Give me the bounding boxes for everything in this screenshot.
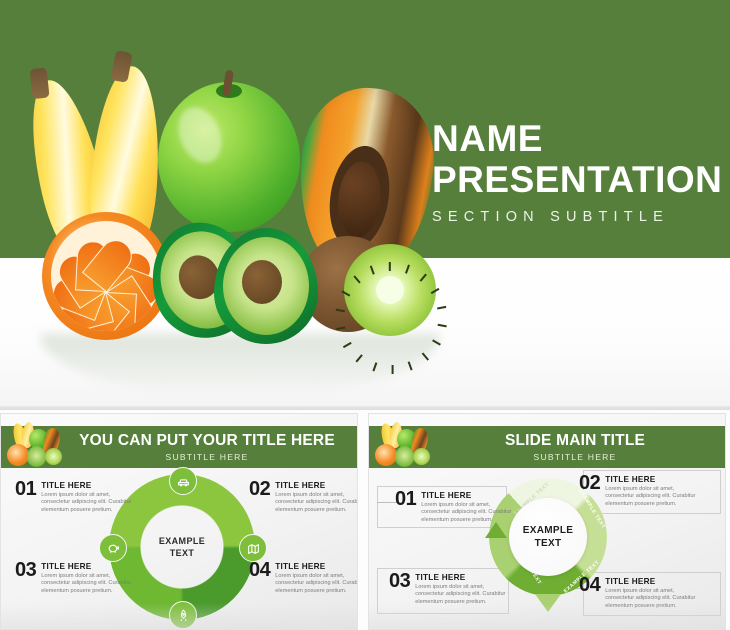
kiwi-seed <box>391 365 393 374</box>
item-number: 01 <box>395 490 416 509</box>
slide2-title: SLIDE MAIN TITLE <box>505 432 645 450</box>
slide2-header-text: SLIDE MAIN TITLE SUBTITLE HERE <box>431 426 719 468</box>
list-item[interactable]: 02 TITLE HERE Lorem ipsum dolor sit amet… <box>249 480 358 514</box>
item-body: Lorem ipsum dolor sit amet, consectetur … <box>421 502 513 524</box>
slide-thumbnail-row: YOU CAN PUT YOUR TITLE HERE SUBTITLE HER… <box>0 413 730 630</box>
avocado-pit <box>242 260 282 304</box>
item-body: Lorem ipsum dolor sit amet, consectetur … <box>41 573 133 595</box>
arrow-head-icon <box>485 522 507 538</box>
item-number: 04 <box>249 561 270 580</box>
slide1-reflection <box>1 603 357 629</box>
item-number: 03 <box>389 572 410 591</box>
kiwi-slice-icon <box>344 244 436 336</box>
mini-fruit-cluster-icon <box>5 422 63 470</box>
page-title: NAME PRESENTATION <box>432 118 722 200</box>
hero-title-line1: NAME <box>432 118 543 159</box>
item-title: TITLE HERE <box>275 481 358 490</box>
item-number: 03 <box>15 561 36 580</box>
item-body: Lorem ipsum dolor sit amet, consectetur … <box>605 486 697 508</box>
slide-thumbnail-1[interactable]: YOU CAN PUT YOUR TITLE HERE SUBTITLE HER… <box>0 413 358 630</box>
donut-center-line2: TEXT <box>159 547 205 559</box>
cycle-center-line1: EXAMPLE <box>523 524 573 537</box>
kiwi-seed <box>353 275 361 283</box>
presentation-template-preview: NAME PRESENTATION SECTION SUBTITLE YOU C… <box>0 0 730 630</box>
mini-orange-icon <box>375 444 397 466</box>
item-number: 01 <box>15 480 36 499</box>
orange-slice-icon <box>42 212 170 340</box>
list-item[interactable]: 02 TITLE HERE Lorem ipsum dolor sit amet… <box>579 474 697 508</box>
item-title: TITLE HERE <box>605 475 697 484</box>
item-title: TITLE HERE <box>421 491 513 500</box>
slide2-subtitle: SUBTITLE HERE <box>534 452 617 462</box>
mini-kiwi-icon <box>413 448 430 465</box>
orange-segments <box>51 221 161 331</box>
mini-avocado-icon <box>395 446 414 467</box>
item-body: Lorem ipsum dolor sit amet, consectetur … <box>41 492 133 514</box>
hero-title-line2: PRESENTATION <box>432 159 722 200</box>
map-icon[interactable] <box>239 534 267 562</box>
item-number: 04 <box>579 576 600 595</box>
list-item[interactable]: 04 TITLE HERE Lorem ipsum dolor sit amet… <box>249 561 358 595</box>
item-body: Lorem ipsum dolor sit amet, consectetur … <box>275 573 358 595</box>
mini-orange-icon <box>7 444 29 466</box>
cycle-center-line2: TEXT <box>523 537 573 550</box>
item-title: TITLE HERE <box>275 562 358 571</box>
banana-stem <box>30 68 50 100</box>
mini-avocado-icon <box>27 446 46 467</box>
donut-center-text: EXAMPLE TEXT <box>159 535 205 559</box>
list-item[interactable]: 01 TITLE HERE Lorem ipsum dolor sit amet… <box>15 480 133 514</box>
item-title: TITLE HERE <box>605 577 697 586</box>
apple-highlight <box>171 101 230 170</box>
cycle-center-text: EXAMPLE TEXT <box>523 524 573 550</box>
kiwi-seed <box>405 265 410 274</box>
slide1-header-text: YOU CAN PUT YOUR TITLE HERE SUBTITLE HER… <box>63 426 351 468</box>
item-title: TITLE HERE <box>415 573 507 582</box>
mini-kiwi-icon <box>45 448 62 465</box>
mini-fruit-cluster-icon <box>373 422 431 470</box>
hero-text-block: NAME PRESENTATION SECTION SUBTITLE <box>432 118 722 225</box>
slide1-title: YOU CAN PUT YOUR TITLE HERE <box>79 432 335 450</box>
item-body: Lorem ipsum dolor sit amet, consectetur … <box>275 492 358 514</box>
slide1-subtitle: SUBTITLE HERE <box>166 452 249 462</box>
kiwi-seed <box>370 265 375 274</box>
hero-baseline-divider <box>0 406 730 410</box>
hero-slide[interactable]: NAME PRESENTATION SECTION SUBTITLE <box>0 0 730 410</box>
item-title: TITLE HERE <box>41 562 133 571</box>
kiwi-core <box>376 276 404 304</box>
green-apple-icon <box>158 82 300 232</box>
car-icon[interactable] <box>169 467 197 495</box>
list-item[interactable]: 01 TITLE HERE Lorem ipsum dolor sit amet… <box>395 490 513 524</box>
piggy-bank-icon[interactable] <box>99 534 127 562</box>
list-item[interactable]: 03 TITLE HERE Lorem ipsum dolor sit amet… <box>389 572 507 606</box>
list-item[interactable]: 03 TITLE HERE Lorem ipsum dolor sit amet… <box>15 561 133 595</box>
slide-thumbnail-2[interactable]: SLIDE MAIN TITLE SUBTITLE HERE <box>368 413 726 630</box>
hero-subtitle: SECTION SUBTITLE <box>432 209 722 225</box>
cycle-center: EXAMPLE TEXT <box>509 498 587 576</box>
kiwi-seed <box>389 262 391 271</box>
slide2-reflection <box>369 603 725 629</box>
item-number: 02 <box>579 474 600 493</box>
kiwi-seed <box>420 274 428 282</box>
item-number: 02 <box>249 480 270 499</box>
item-title: TITLE HERE <box>41 481 133 490</box>
donut-center-line1: EXAMPLE <box>159 535 205 547</box>
